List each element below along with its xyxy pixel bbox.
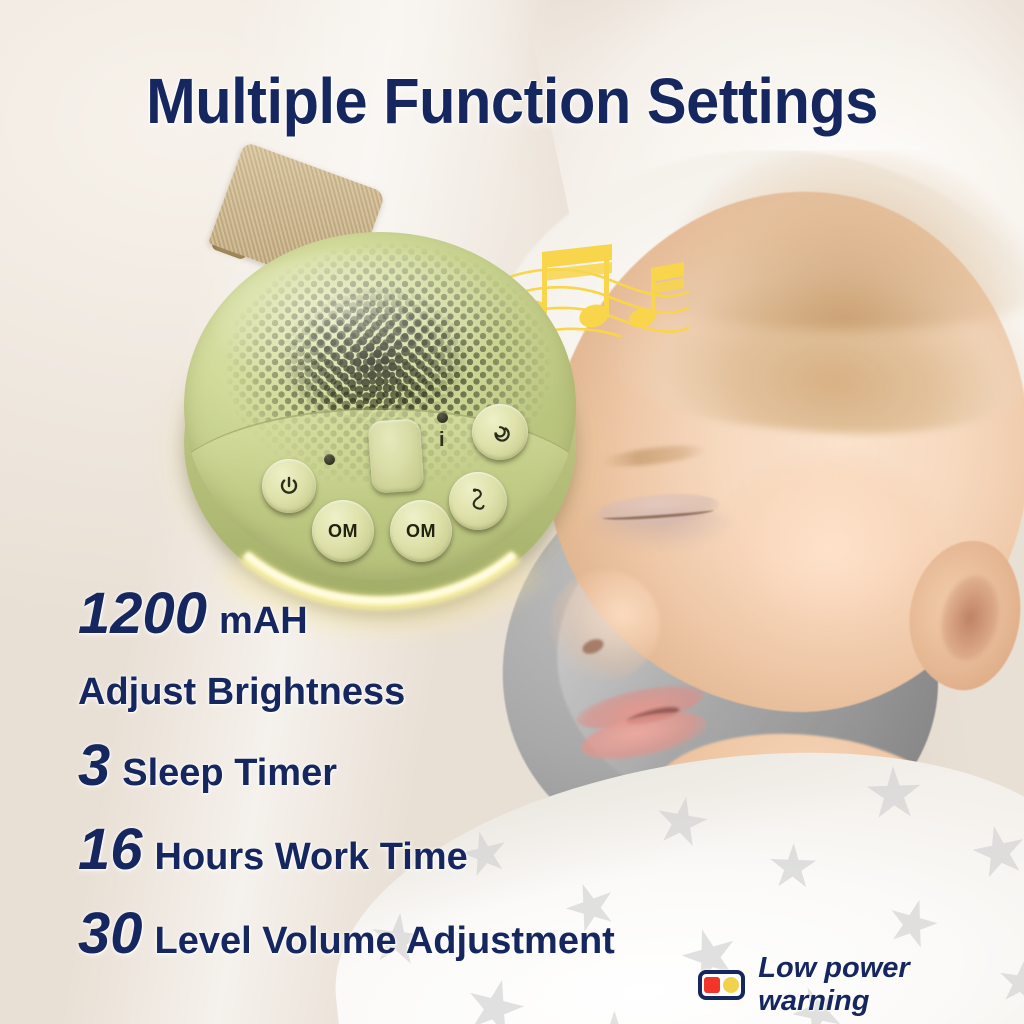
feature-label-brightness: Adjust Brightness [78, 673, 405, 711]
om-button-right-label: OM [406, 521, 436, 542]
sound-wave-icon [465, 486, 491, 516]
device-top-face: OM OM i [184, 232, 576, 580]
led-indicator-right [437, 412, 448, 423]
feature-number-battery: 1200 [78, 585, 207, 643]
mode-button-center[interactable] [368, 418, 425, 493]
battery-yellow-cell [723, 977, 739, 993]
page-title: Multiple Function Settings [36, 64, 988, 138]
om-button-right[interactable]: OM [390, 500, 452, 562]
feature-label-battery: mAH [219, 602, 308, 640]
sound-machine-device: OM OM i [170, 160, 590, 610]
control-panel: OM OM i [184, 232, 576, 580]
feature-label-sleep-timer: Sleep Timer [122, 754, 337, 792]
feature-list: 1200 mAH Adjust Brightness 3 Sleep Timer… [78, 585, 718, 963]
feature-row-sleep-timer: 3 Sleep Timer [78, 737, 718, 795]
battery-red-cell [704, 977, 720, 993]
om-button-left-label: OM [328, 521, 358, 542]
low-power-warning-label: Low power warning [758, 952, 1024, 1018]
sound-button[interactable] [449, 472, 507, 530]
om-button-left[interactable]: OM [312, 500, 374, 562]
led-indicator-left [324, 454, 335, 465]
feature-number-work-time: 16 [78, 821, 143, 879]
feature-label-work-time: Hours Work Time [155, 838, 468, 876]
feature-row-battery: 1200 mAH [78, 585, 718, 643]
feature-row-volume: 30 Level Volume Adjustment [78, 905, 718, 963]
marking-i-label: i [439, 430, 445, 450]
product-marketing-image: OM OM i [0, 0, 1024, 1024]
power-button[interactable] [262, 459, 316, 513]
light-button[interactable] [472, 404, 528, 460]
feature-number-volume: 30 [78, 905, 143, 963]
feature-number-sleep-timer: 3 [78, 737, 110, 795]
swirl-icon [487, 419, 513, 445]
battery-low-icon [698, 970, 745, 1000]
feature-row-work-time: 16 Hours Work Time [78, 821, 718, 879]
feature-row-brightness: Adjust Brightness [78, 673, 718, 711]
power-icon [277, 474, 301, 498]
low-power-warning-badge: Low power warning [698, 952, 1024, 1018]
feature-label-volume: Level Volume Adjustment [155, 922, 615, 960]
